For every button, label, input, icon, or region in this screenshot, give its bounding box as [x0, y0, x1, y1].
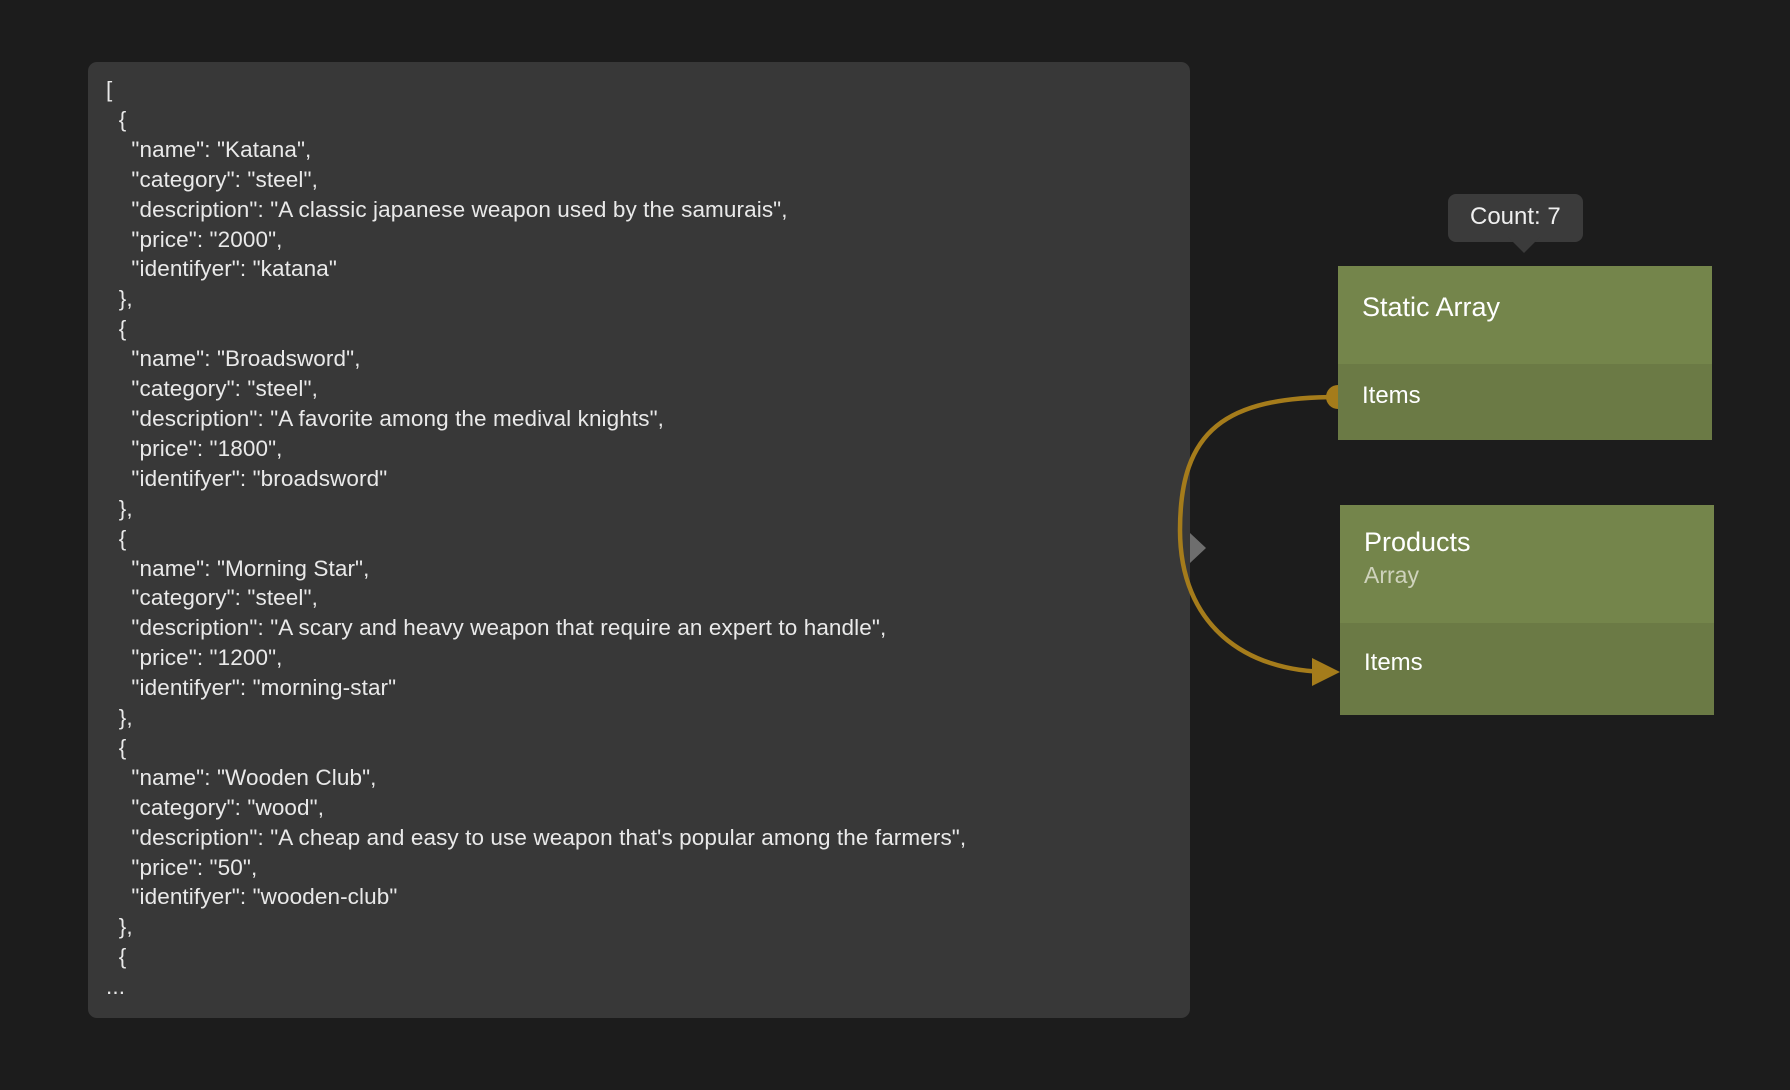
graph-canvas[interactable]: [ { "name": "Katana", "category": "steel…: [0, 0, 1790, 1090]
count-tooltip-label: Count: 7: [1470, 203, 1561, 230]
node-row-items[interactable]: Items: [1338, 364, 1712, 434]
node-row-label: Items: [1362, 382, 1421, 409]
json-source-code: [ { "name": "Katana", "category": "steel…: [106, 75, 1184, 1002]
node-header[interactable]: Static Array: [1338, 266, 1712, 364]
json-source-panel[interactable]: [ { "name": "Katana", "category": "steel…: [88, 62, 1190, 1018]
node-row-items[interactable]: Items: [1340, 623, 1714, 701]
node-title: Products: [1364, 527, 1690, 559]
node-title: Static Array: [1362, 292, 1688, 324]
node-static-array[interactable]: Static Array Items: [1338, 266, 1712, 440]
node-body: Items: [1338, 364, 1712, 440]
node-subtitle: Array: [1364, 561, 1690, 589]
node-row-label: Items: [1364, 649, 1423, 676]
node-header[interactable]: Products Array: [1340, 505, 1714, 623]
tooltip-pointer-icon: [1508, 237, 1540, 253]
node-products[interactable]: Products Array Items: [1340, 505, 1714, 715]
count-tooltip: Count: 7: [1448, 194, 1583, 242]
chevron-right-icon[interactable]: [1190, 533, 1206, 563]
node-body: Items: [1340, 623, 1714, 715]
arrow-head-icon: [1312, 658, 1340, 686]
